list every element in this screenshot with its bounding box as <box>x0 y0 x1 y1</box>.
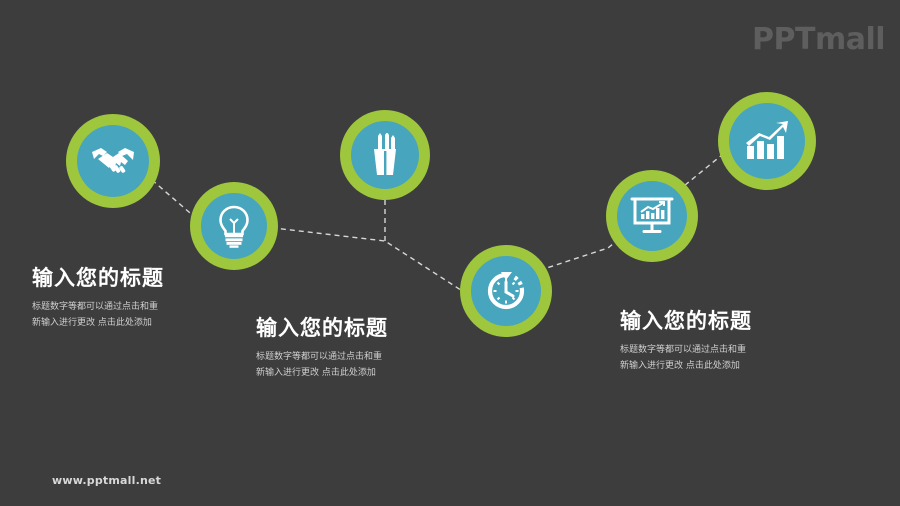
text-block-1-title: 输入您的标题 <box>32 262 164 292</box>
connector-lines <box>0 0 900 506</box>
text-block-2-line1: 标题数字等都可以通过点击和重 <box>256 349 388 365</box>
node-clock[interactable] <box>460 245 552 337</box>
text-block-1-line2: 新输入进行更改 点击此处添加 <box>32 315 164 331</box>
node-presentation[interactable] <box>606 170 698 262</box>
node-lightbulb[interactable] <box>190 182 278 270</box>
node-pen-holder-disc <box>351 121 419 189</box>
text-block-2-line2: 新输入进行更改 点击此处添加 <box>256 365 388 381</box>
text-block-3-title: 输入您的标题 <box>620 305 752 335</box>
node-clock-disc <box>471 256 541 326</box>
pptmall-logo: PPTmall <box>752 22 882 58</box>
text-block-1-body: 标题数字等都可以通过点击和重 新输入进行更改 点击此处添加 <box>32 299 164 331</box>
node-growth[interactable] <box>718 92 816 190</box>
text-block-1: 输入您的标题 标题数字等都可以通过点击和重 新输入进行更改 点击此处添加 <box>32 262 164 331</box>
pen-holder-icon <box>368 133 402 177</box>
node-lightbulb-disc <box>201 193 267 259</box>
presentation-chart-icon <box>630 195 674 237</box>
node-pen-holder[interactable] <box>340 110 430 200</box>
growth-chart-icon <box>743 119 791 163</box>
text-block-1-line1: 标题数字等都可以通过点击和重 <box>32 299 164 315</box>
text-block-3: 输入您的标题 标题数字等都可以通过点击和重 新输入进行更改 点击此处添加 <box>620 305 752 374</box>
node-growth-disc <box>729 103 805 179</box>
clock-arrow-icon <box>484 269 528 313</box>
text-block-2: 输入您的标题 标题数字等都可以通过点击和重 新输入进行更改 点击此处添加 <box>256 312 388 381</box>
node-handshake-disc <box>77 125 149 197</box>
footer-url[interactable]: www.pptmall.net <box>52 474 161 487</box>
text-block-3-body: 标题数字等都可以通过点击和重 新输入进行更改 点击此处添加 <box>620 342 752 374</box>
text-block-2-body: 标题数字等都可以通过点击和重 新输入进行更改 点击此处添加 <box>256 349 388 381</box>
slide-canvas: PPTmall <box>0 0 900 506</box>
node-presentation-disc <box>617 181 687 251</box>
lightbulb-icon <box>217 204 251 248</box>
text-block-3-line2: 新输入进行更改 点击此处添加 <box>620 358 752 374</box>
handshake-icon <box>90 143 136 179</box>
text-block-3-line1: 标题数字等都可以通过点击和重 <box>620 342 752 358</box>
node-handshake[interactable] <box>66 114 160 208</box>
text-block-2-title: 输入您的标题 <box>256 312 388 342</box>
